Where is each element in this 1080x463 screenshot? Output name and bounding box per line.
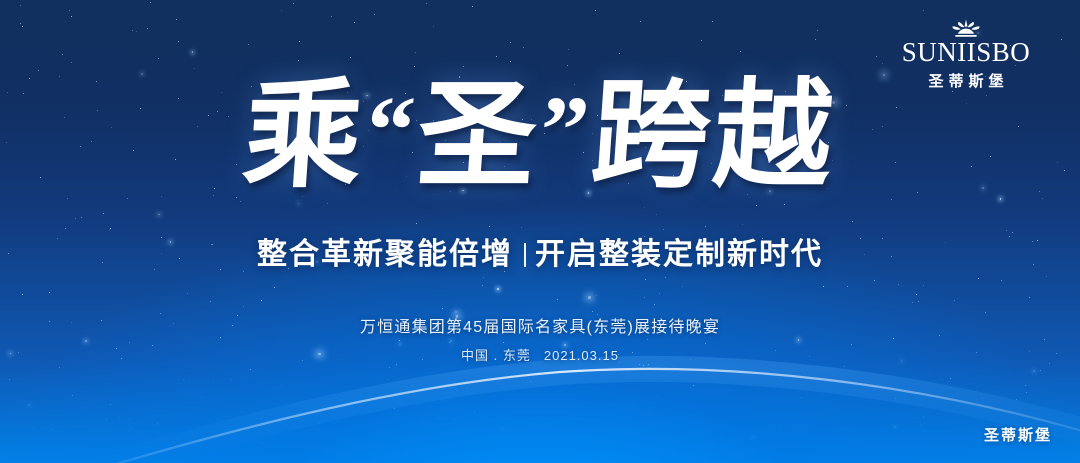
headline-part-2: 圣	[413, 71, 544, 202]
event-meta: 中国 . 东莞2021.03.15	[0, 345, 1080, 364]
subtitle-separator	[524, 243, 526, 267]
subtitle: 整合革新聚能倍增开启整装定制新时代	[0, 229, 1080, 273]
event-title: 万恒通集团第45届国际名家具(东莞)展接待晚宴	[0, 313, 1080, 337]
page-title: 乘“圣”跨越	[0, 78, 1080, 196]
headline-quote-close: ”	[537, 76, 596, 183]
poster-banner: SUNIISBO 圣蒂斯堡 乘“圣”跨越 整合革新聚能倍增开启整装定制新时代 万…	[0, 0, 1080, 463]
lotus-sunburst-icon	[878, 18, 1054, 38]
headline-part-3: 跨越	[587, 71, 840, 202]
subtitle-right: 开启整装定制新时代	[535, 238, 823, 271]
event-location: 中国 . 东莞	[461, 348, 531, 363]
subtitle-left: 整合革新聚能倍增	[257, 238, 513, 271]
headline-part-1: 乘	[239, 71, 370, 202]
logo-wordmark: SUNIISBO	[878, 39, 1054, 67]
headline-quote-open: “	[363, 76, 422, 183]
event-date: 2021.03.15	[544, 348, 619, 363]
footer-brand: 圣蒂斯堡	[984, 424, 1052, 445]
